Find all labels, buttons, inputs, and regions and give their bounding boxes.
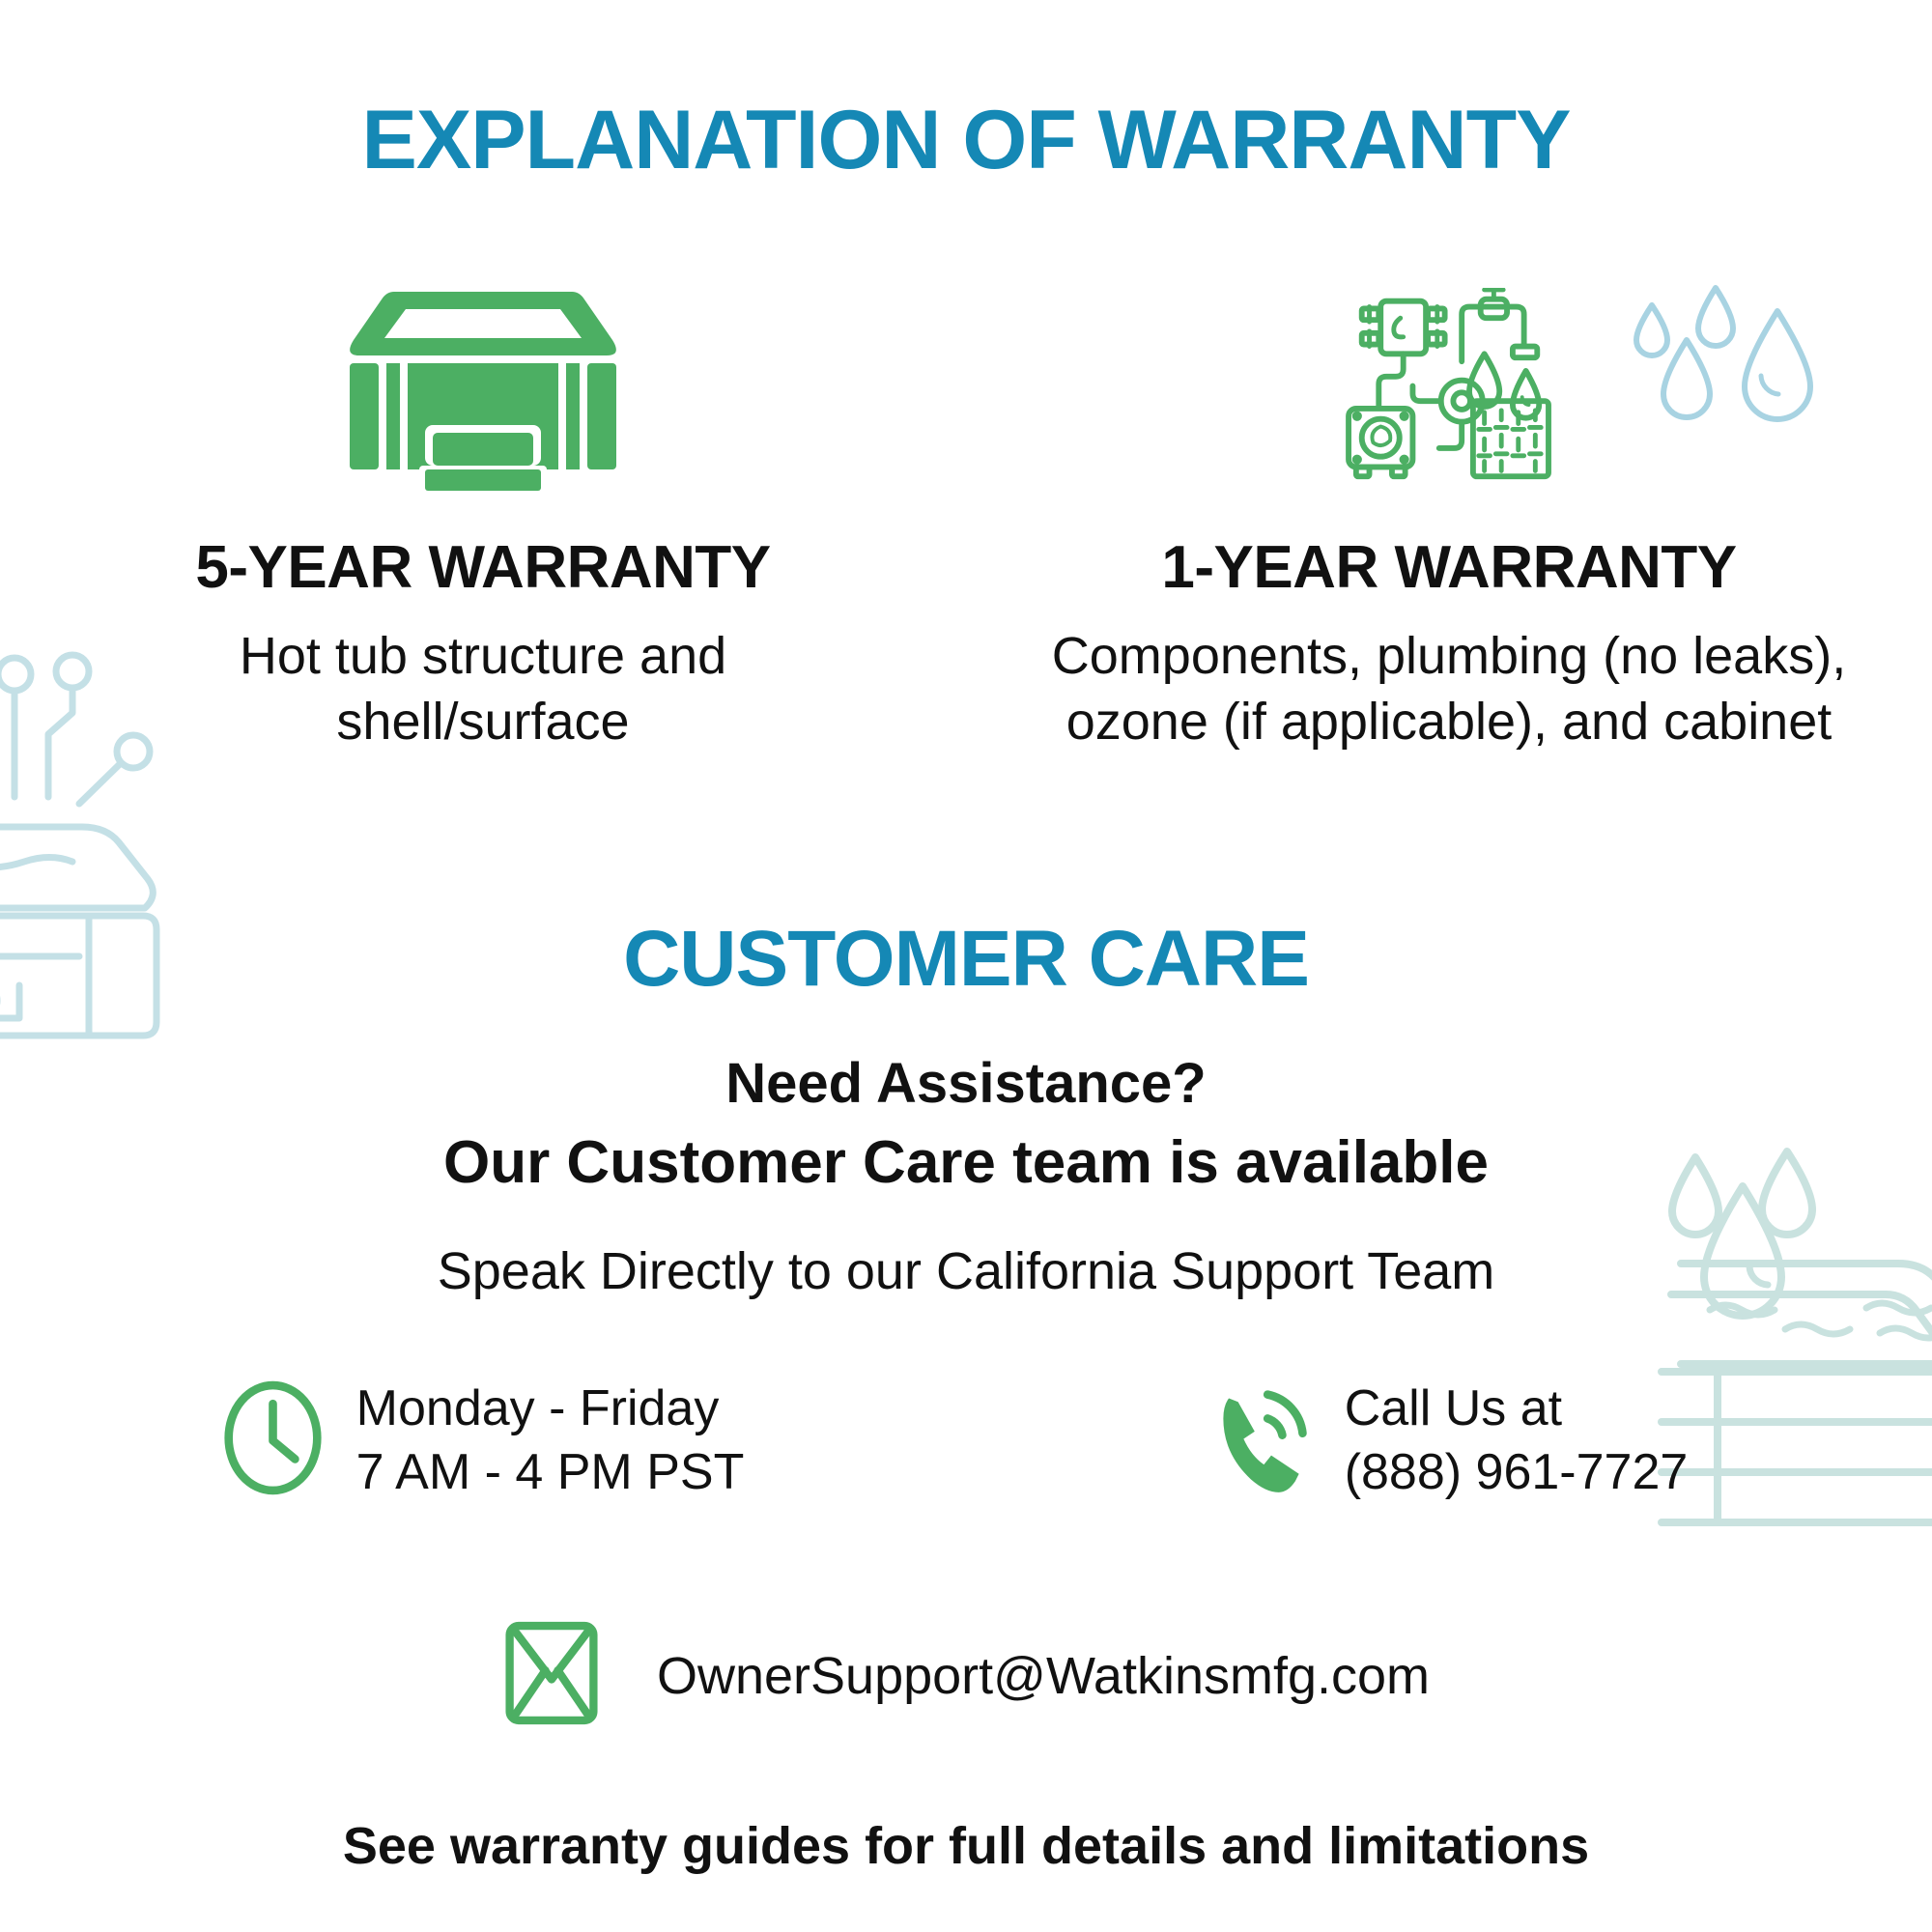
hours-times: 7 AM - 4 PM PST <box>356 1440 745 1504</box>
hot-tub-solid-icon <box>338 270 628 502</box>
hours-block: Monday - Friday 7 AM - 4 PM PST <box>0 1377 966 1504</box>
warranty-heading-5-year: 5-YEAR WARRANTY <box>195 533 770 602</box>
speak-directly-text: Speak Directly to our California Support… <box>0 1241 1932 1301</box>
email-block: OwnerSupport@Watkinsmfg.com <box>0 1615 1932 1736</box>
hours-text-group: Monday - Friday 7 AM - 4 PM PST <box>356 1377 745 1504</box>
phone-number[interactable]: (888) 961-7727 <box>1345 1440 1689 1504</box>
warranty-infographic: EXPLANATION OF WARRANTY <box>0 0 1932 1932</box>
contact-row: Monday - Friday 7 AM - 4 PM PST Call Us … <box>0 1377 1932 1504</box>
plumbing-components-icon <box>1341 270 1558 502</box>
clock-icon <box>222 1378 324 1503</box>
warranty-heading-1-year: 1-YEAR WARRANTY <box>1161 533 1736 602</box>
warranty-description-5-year: Hot tub structure and shell/surface <box>116 623 850 754</box>
page-title-warranty: EXPLANATION OF WARRANTY <box>0 92 1932 188</box>
envelope-icon[interactable] <box>502 1615 601 1736</box>
warranty-columns: 5-YEAR WARRANTY Hot tub structure and sh… <box>0 270 1932 754</box>
hours-days: Monday - Friday <box>356 1377 745 1440</box>
warranty-description-1-year: Components, plumbing (no leaks), ozone (… <box>1024 623 1874 754</box>
footer-note: See warranty guides for full details and… <box>0 1816 1932 1876</box>
phone-icon[interactable] <box>1210 1378 1312 1503</box>
warranty-column-5-year: 5-YEAR WARRANTY Hot tub structure and sh… <box>0 270 966 754</box>
section-title-customer-care: CUSTOMER CARE <box>0 913 1932 1006</box>
phone-text-group: Call Us at (888) 961-7727 <box>1345 1377 1689 1504</box>
email-address[interactable]: OwnerSupport@Watkinsmfg.com <box>657 1646 1430 1706</box>
availability-text: Our Customer Care team is available <box>0 1128 1932 1197</box>
phone-label: Call Us at <box>1345 1377 1689 1440</box>
warranty-column-1-year: 1-YEAR WARRANTY Components, plumbing (no… <box>966 270 1932 754</box>
phone-block: Call Us at (888) 961-7727 <box>966 1377 1932 1504</box>
need-assistance-text: Need Assistance? <box>0 1051 1932 1116</box>
